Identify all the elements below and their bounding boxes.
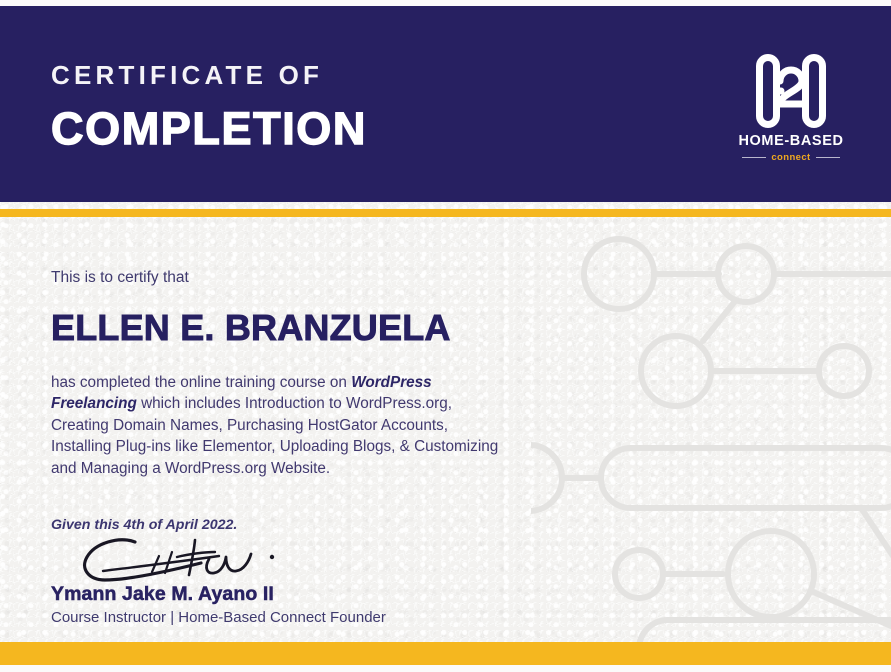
recipient-name: ELLEN E. BRANZUELA	[51, 310, 521, 346]
course-description: has completed the online training course…	[51, 372, 503, 479]
brand-name: HOME-BASED	[721, 133, 861, 149]
certificate-title: CERTIFICATE OF COMPLETION	[51, 62, 367, 151]
issue-date: Given this 4th of April 2022.	[51, 517, 521, 533]
certificate-document: CERTIFICATE OF COMPLETION	[0, 0, 891, 672]
brand-logo: HOME-BASED connect	[721, 52, 861, 163]
certificate-body: This is to certify that ELLEN E. BRANZUE…	[51, 217, 521, 627]
certificate-title-line-1: CERTIFICATE OF	[51, 62, 367, 88]
signer-name: Ymann Jake M. Ayano II	[51, 583, 274, 606]
course-description-prefix: has completed the online training course…	[51, 374, 351, 391]
top-gold-rule	[0, 209, 891, 217]
signature-block: Ymann Jake M. Ayano II Course Instructor…	[51, 535, 471, 627]
brand-tagline-row: connect	[721, 152, 861, 163]
certify-statement: This is to certify that	[51, 269, 521, 286]
certificate-title-line-2: COMPLETION	[51, 106, 367, 151]
handwritten-signature-icon	[73, 535, 303, 587]
brand-tagline: connect	[771, 152, 810, 163]
bottom-paper-margin	[0, 665, 891, 672]
certificate-header-band: CERTIFICATE OF COMPLETION	[0, 6, 891, 202]
tagline-rule-right	[816, 157, 840, 159]
tagline-rule-left	[742, 157, 766, 159]
bottom-gold-rule	[0, 642, 891, 665]
signer-role: Course Instructor | Home-Based Connect F…	[51, 609, 386, 626]
home-based-connect-h-monogram-icon	[754, 52, 828, 130]
